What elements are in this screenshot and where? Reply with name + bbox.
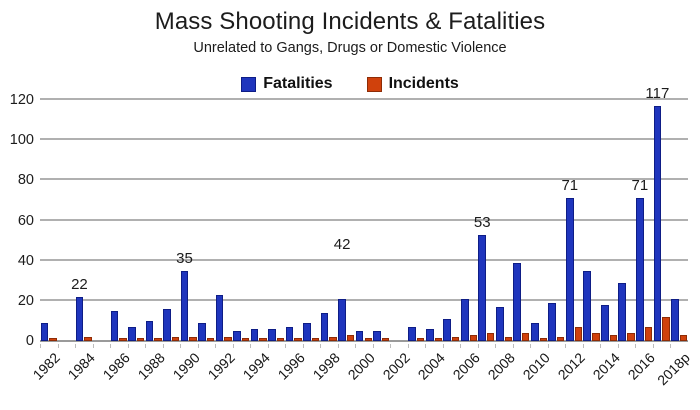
data-label: 71 xyxy=(561,177,578,194)
x-axis-tick xyxy=(75,344,76,348)
bar-incidents[interactable] xyxy=(592,333,599,341)
bar-fatalities[interactable] xyxy=(128,327,136,341)
bar-incidents[interactable] xyxy=(417,338,424,341)
bar-fatalities[interactable] xyxy=(461,299,469,341)
bar-incidents[interactable] xyxy=(645,327,652,341)
data-label: 71 xyxy=(632,177,649,194)
bar-incidents[interactable] xyxy=(662,317,669,341)
bar-incidents[interactable] xyxy=(435,338,442,341)
bar-incidents[interactable] xyxy=(329,337,336,341)
bar-fatalities[interactable] xyxy=(111,311,119,341)
bar-fatalities[interactable] xyxy=(181,271,189,341)
bar-fatalities[interactable] xyxy=(338,299,346,341)
x-axis-tick xyxy=(268,344,269,348)
bar-fatalities[interactable] xyxy=(478,235,486,341)
bar-incidents[interactable] xyxy=(540,338,547,341)
bar-incidents[interactable] xyxy=(259,338,266,341)
x-axis-tick xyxy=(338,344,339,348)
bar-series-layer: 223542537171117 xyxy=(40,100,688,341)
legend-swatch-fatalities xyxy=(241,77,256,92)
bar-incidents[interactable] xyxy=(119,338,126,341)
bar-fatalities[interactable] xyxy=(618,283,626,341)
x-axis-tick xyxy=(495,344,496,348)
bar-fatalities[interactable] xyxy=(443,319,451,341)
x-axis-tick xyxy=(548,344,549,348)
bar-incidents[interactable] xyxy=(470,335,477,341)
bar-incidents[interactable] xyxy=(312,338,319,341)
x-axis-tick xyxy=(110,344,111,348)
x-axis-tick xyxy=(93,344,94,348)
chart-container: Mass Shooting Incidents & Fatalities Unr… xyxy=(0,0,700,410)
bar-fatalities[interactable] xyxy=(321,313,329,341)
x-axis-tick xyxy=(250,344,251,348)
x-axis-tick xyxy=(653,344,654,348)
x-axis-tick xyxy=(530,344,531,348)
bar-fatalities[interactable] xyxy=(286,327,294,341)
x-axis-tick xyxy=(303,344,304,348)
legend-label-fatalities: Fatalities xyxy=(263,76,332,92)
bar-fatalities[interactable] xyxy=(163,309,171,341)
plot-area: 223542537171117 xyxy=(40,100,688,341)
bar-incidents[interactable] xyxy=(154,338,161,341)
x-axis-tick xyxy=(40,344,41,348)
data-label: 35 xyxy=(176,250,193,267)
x-axis-tick xyxy=(373,344,374,348)
x-axis-tick xyxy=(565,344,566,348)
x-axis-tick xyxy=(180,344,181,348)
x-axis-tick xyxy=(513,344,514,348)
bar-incidents[interactable] xyxy=(627,333,634,341)
bar-incidents[interactable] xyxy=(575,327,582,341)
bar-incidents[interactable] xyxy=(557,337,564,341)
y-axis-tick-label: 20 xyxy=(0,293,34,309)
bar-fatalities[interactable] xyxy=(531,323,539,341)
bar-incidents[interactable] xyxy=(172,337,179,341)
bar-incidents[interactable] xyxy=(452,337,459,341)
x-axis-tick xyxy=(443,344,444,348)
x-axis-tick xyxy=(600,344,601,348)
bar-fatalities[interactable] xyxy=(601,305,609,341)
y-axis-tick-label: 100 xyxy=(0,132,34,148)
bar-incidents[interactable] xyxy=(382,338,389,341)
bar-incidents[interactable] xyxy=(277,338,284,341)
x-axis-tick xyxy=(163,344,164,348)
bar-incidents[interactable] xyxy=(365,338,372,341)
data-label: 42 xyxy=(334,236,351,253)
x-axis-tick xyxy=(478,344,479,348)
x-axis-tick xyxy=(128,344,129,348)
data-label: 53 xyxy=(474,214,491,231)
x-axis-tick xyxy=(460,344,461,348)
bar-fatalities[interactable] xyxy=(426,329,434,341)
x-axis-tick xyxy=(408,344,409,348)
bar-incidents[interactable] xyxy=(84,337,91,341)
bar-fatalities[interactable] xyxy=(251,329,259,341)
x-axis-tick xyxy=(425,344,426,348)
chart-subtitle: Unrelated to Gangs, Drugs or Domestic Vi… xyxy=(0,40,700,56)
bar-incidents[interactable] xyxy=(137,338,144,341)
x-axis-tick xyxy=(390,344,391,348)
bar-fatalities[interactable] xyxy=(654,106,662,341)
x-axis-tick xyxy=(618,344,619,348)
data-label: 22 xyxy=(71,276,88,293)
chart-legend: Fatalities Incidents xyxy=(0,76,700,92)
bar-incidents[interactable] xyxy=(680,335,687,341)
x-axis-tick xyxy=(320,344,321,348)
x-axis-tick xyxy=(670,344,671,348)
x-axis-tick xyxy=(583,344,584,348)
bar-fatalities[interactable] xyxy=(513,263,521,341)
x-axis-tick xyxy=(215,344,216,348)
bar-fatalities[interactable] xyxy=(548,303,556,341)
y-axis-tick-label: 0 xyxy=(0,333,34,349)
legend-item-fatalities[interactable]: Fatalities xyxy=(241,76,332,92)
bar-fatalities[interactable] xyxy=(146,321,154,341)
bar-fatalities[interactable] xyxy=(303,323,311,341)
bar-incidents[interactable] xyxy=(49,338,56,341)
y-axis-tick-label: 60 xyxy=(0,213,34,229)
bar-fatalities[interactable] xyxy=(671,299,679,341)
bar-incidents[interactable] xyxy=(224,337,231,341)
bar-fatalities[interactable] xyxy=(356,331,364,341)
bar-fatalities[interactable] xyxy=(496,307,504,341)
bar-fatalities[interactable] xyxy=(566,198,574,341)
x-axis-tick xyxy=(355,344,356,348)
legend-item-incidents[interactable]: Incidents xyxy=(367,76,459,92)
bar-fatalities[interactable] xyxy=(636,198,644,341)
y-axis-tick-label: 80 xyxy=(0,172,34,188)
bar-fatalities[interactable] xyxy=(373,331,381,341)
bar-fatalities[interactable] xyxy=(76,297,84,341)
x-axis-labels: 1982198419861988199019921994199619982000… xyxy=(40,344,688,408)
bar-incidents[interactable] xyxy=(347,335,354,341)
bar-incidents[interactable] xyxy=(487,333,494,341)
bar-incidents[interactable] xyxy=(505,337,512,341)
bar-fatalities[interactable] xyxy=(41,323,49,341)
x-axis-tick xyxy=(198,344,199,348)
bar-incidents[interactable] xyxy=(207,338,214,341)
bar-fatalities[interactable] xyxy=(583,271,591,341)
chart-title: Mass Shooting Incidents & Fatalities xyxy=(0,8,700,36)
y-axis-tick-label: 120 xyxy=(0,92,34,108)
bar-incidents[interactable] xyxy=(242,338,249,341)
x-axis-tick xyxy=(233,344,234,348)
legend-label-incidents: Incidents xyxy=(389,76,459,92)
y-axis-tick-label: 40 xyxy=(0,253,34,269)
x-axis-tick xyxy=(285,344,286,348)
bar-fatalities[interactable] xyxy=(408,327,416,341)
bar-incidents[interactable] xyxy=(522,333,529,341)
data-label: 117 xyxy=(645,85,669,102)
bar-fatalities[interactable] xyxy=(198,323,206,341)
x-axis-tick xyxy=(635,344,636,348)
x-axis-tick xyxy=(58,344,59,348)
bar-fatalities[interactable] xyxy=(268,329,276,341)
bar-incidents[interactable] xyxy=(189,337,196,341)
bar-fatalities[interactable] xyxy=(216,295,224,341)
legend-swatch-incidents xyxy=(367,77,382,92)
bar-incidents[interactable] xyxy=(294,338,301,341)
bar-incidents[interactable] xyxy=(610,335,617,341)
x-axis-tick xyxy=(145,344,146,348)
bar-fatalities[interactable] xyxy=(233,331,241,341)
